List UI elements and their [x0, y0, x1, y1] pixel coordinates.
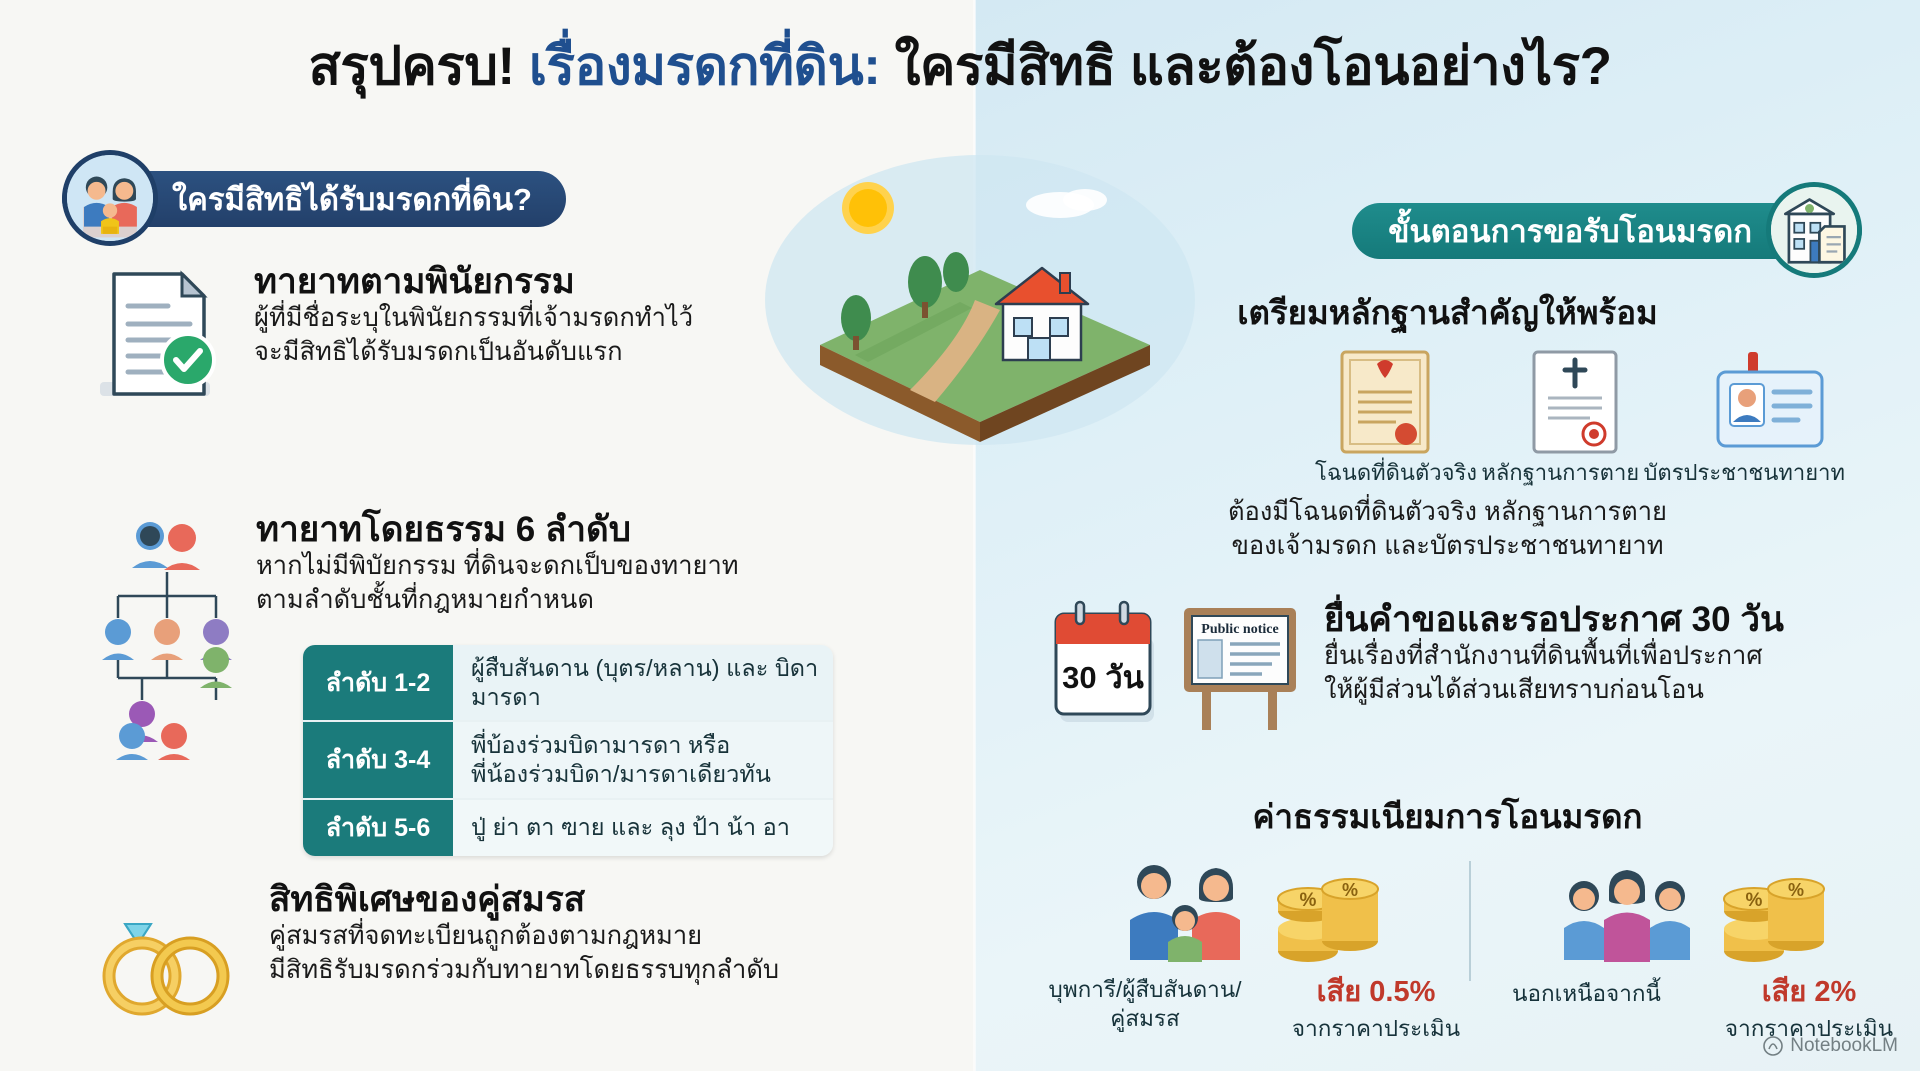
family-icon — [62, 150, 158, 246]
table-row: ลำดับ 1-2 ผู้สืบสันดาน (บุตร/หลาน) และ บ… — [303, 645, 833, 722]
fee-item-1: % % — [1030, 855, 1469, 967]
document-label-1: โฉนดที่ดินตัวจริง — [1315, 455, 1477, 490]
document-label-3: บัตรประชาชนทายาท — [1643, 455, 1845, 490]
coin-stack-percent-icon: % % — [1272, 855, 1384, 967]
left-section-2-line-2: ตามลำดับชั้นที่กฎหมายกำหนด — [256, 584, 739, 618]
title-part-3: ใครมีสิทธิ และต้องโอนอย่างไร? — [895, 37, 1612, 96]
svg-text:%: % — [1299, 890, 1316, 911]
land-office-building-icon — [1766, 182, 1862, 278]
public-notice-board-icon: Public notice — [1176, 600, 1304, 732]
right-step-1-line-1: ต้องมีโฉนดที่ดินตัวจริง หลักฐานการตาย — [975, 495, 1920, 529]
infographic-page: สรุปครบ! เรื่องมรดกที่ดิน: ใครมีสิทธิ แล… — [0, 0, 1920, 1071]
right-step-2-line-1: ยื่นเรื่องที่สำนักงานที่ดินพื้นที่เพื่อป… — [1324, 640, 1784, 674]
table-row-key: ลำดับ 3-4 — [303, 722, 453, 797]
left-section-badge: ใครมีสิทธิได้รับมรดกที่ดิน? — [62, 168, 566, 230]
fee-1-label: บุพการี/ผู้สืบสันดาน/ คู่สมรส — [1030, 975, 1260, 1034]
table-cell-line: พี่น้องร่วมบิดา/มารดาเดียวทัน — [471, 760, 833, 789]
left-section-3-text: สิทธิพิเศษของคู่สมรส คู่สมรสที่จดทะเบียน… — [255, 880, 779, 988]
left-section-1-line-2: จะมีสิทธิได้รับมรดกเป็นอันดับแรก — [254, 336, 693, 370]
table-cell-line: พี่บ้องร่วมบิดามารดา หรือ — [471, 731, 833, 760]
fee-1-label-line-2: คู่สมรส — [1030, 1004, 1260, 1033]
svg-text:Public notice: Public notice — [1201, 622, 1278, 637]
coin-stack-percent-icon: % % — [1718, 855, 1830, 967]
fee-2-label-line-1: นอกเหนือจากนี้ — [1482, 979, 1692, 1008]
title-part-2: เรื่องมรดกที่ดิน: — [529, 37, 880, 96]
wedding-rings-icon — [80, 880, 255, 1020]
right-step-2-line-2: ให้ผู้มีส่วนได้ส่วนเสียทราบก่อนโอน — [1324, 674, 1784, 708]
fee-2-label: นอกเหนือจากนี้ — [1482, 975, 1692, 1008]
calendar-30-days-icon: 30 วัน — [1048, 600, 1166, 730]
watermark: NotebookLM — [1763, 1035, 1898, 1057]
fee-2-amount: เสีย 2% — [1712, 975, 1907, 1010]
left-section-2-heading: ทายาทโดยธรรม 6 ลำดับ — [256, 510, 739, 550]
fee-1-amount: เสีย 0.5% — [1276, 975, 1476, 1010]
svg-text:%: % — [1341, 880, 1357, 900]
left-section-2-line-1: หากไม่มีพิบัยกรรม ที่ดินจะดกเป็บของทายาท — [256, 550, 739, 584]
family-group-icon — [1116, 856, 1256, 966]
left-section-3-line-2: มีสิทธิรับมรดกร่วมกับทายาทโดยธรรบทุกลำดั… — [269, 954, 779, 988]
right-step-1-heading: เตรียมหลักฐานสำคัญให้พร้อม — [0, 286, 1920, 339]
people-group-icon — [1552, 856, 1702, 966]
fees-row: % % — [1030, 855, 1910, 981]
fees-heading: ค่าธรรมเนียมการโอนมรดก — [0, 790, 1920, 843]
family-tree-icon — [92, 510, 242, 760]
notebooklm-logo-icon — [1763, 1036, 1783, 1056]
title-deed-icon — [1330, 348, 1440, 456]
svg-text:30 วัน: 30 วัน — [1062, 660, 1144, 695]
fee-1-basis: จากราคาประเมิน — [1276, 1010, 1476, 1046]
table-row-key: ลำดับ 1-2 — [303, 645, 453, 720]
table-row-value: พี่บ้องร่วมบิดามารดา หรือ พี่น้องร่วมบิด… — [453, 722, 833, 797]
right-step-2-text: ยื่นคำขอและรอประกาศ 30 วัน ยื่นเรื่องที่… — [1304, 600, 1784, 708]
document-label-2: หลักฐานการตาย — [1481, 455, 1639, 490]
table-row: ลำดับ 3-4 พี่บ้องร่วมบิดามารดา หรือ พี่น… — [303, 722, 833, 799]
fee-item-2: % % — [1471, 855, 1910, 967]
death-certificate-icon — [1520, 348, 1630, 456]
required-documents-row — [1330, 348, 1830, 456]
right-section-badge: ขั้นตอนการขอรับโอนมรดก — [1352, 200, 1862, 262]
left-section-3: สิทธิพิเศษของคู่สมรส คู่สมรสที่จดทะเบียน… — [80, 880, 779, 1020]
right-step-1-line-2: ของเจ้ามรดก และบัตรประชาชนทายาท — [975, 529, 1920, 563]
table-row-value: ผู้สืบสันดาน (บุตร/หลาน) และ บิดามารดา — [453, 645, 833, 720]
table-cell-line: ผู้สืบสันดาน (บุตร/หลาน) และ บิดามารดา — [471, 654, 833, 711]
right-step-2: 30 วัน Public notice ยื่นคำขอและรอประกาศ… — [1048, 600, 1784, 732]
fee-1-amount-block: เสีย 0.5% จากราคาประเมิน — [1276, 975, 1476, 1046]
left-section-3-heading: สิทธิพิเศษของคู่สมรส — [269, 880, 779, 920]
fee-1-label-line-1: บุพการี/ผู้สืบสันดาน/ — [1030, 975, 1260, 1004]
svg-text:%: % — [1745, 890, 1762, 911]
required-documents-labels: โฉนดที่ดินตัวจริง หลักฐานการตาย บัตรประช… — [1315, 455, 1845, 490]
watermark-label: NotebookLM — [1790, 1035, 1898, 1057]
id-card-icon — [1710, 348, 1830, 456]
svg-text:%: % — [1787, 880, 1803, 900]
right-step-2-heading: ยื่นคำขอและรอประกาศ 30 วัน — [1324, 600, 1784, 640]
title-part-1: สรุปครบ! — [309, 37, 515, 96]
left-section-3-line-1: คู่สมรสที่จดทะเบียนถูกต้องตามกฎหมาย — [269, 920, 779, 954]
page-title: สรุปครบ! เรื่องมรดกที่ดิน: ใครมีสิทธิ แล… — [0, 38, 1920, 96]
left-section-2-text: ทายาทโดยธรรม 6 ลำดับ หากไม่มีพิบัยกรรม ท… — [242, 510, 739, 618]
